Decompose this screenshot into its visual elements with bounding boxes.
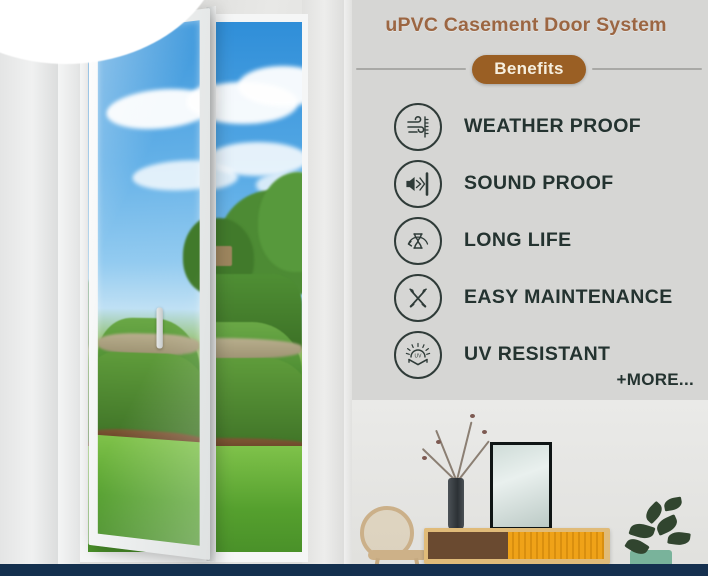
bottom-navy-bar-left xyxy=(0,564,352,576)
interior-living-room-photo xyxy=(352,400,708,576)
divider-left xyxy=(356,68,466,70)
door-handle xyxy=(156,307,162,348)
branch-bud xyxy=(470,414,475,418)
wind-weather-icon xyxy=(394,103,442,151)
door-reveal xyxy=(58,0,80,576)
benefits-badge-row: Benefits xyxy=(356,54,702,84)
benefit-label: LONG LIFE xyxy=(464,229,572,252)
benefits-list: WEATHER PROOF SOUND PROOF xyxy=(394,98,704,383)
poster: uPVC Casement Door System Benefits xyxy=(0,0,708,576)
open-door-sash xyxy=(88,8,210,560)
sash-glass xyxy=(98,20,200,546)
branch-bud xyxy=(436,440,441,444)
ceramic-vase xyxy=(448,478,464,530)
page-title: uPVC Casement Door System xyxy=(352,14,700,37)
more-label: +MORE... xyxy=(617,370,695,390)
benefits-badge: Benefits xyxy=(472,55,585,84)
framed-artwork xyxy=(490,442,552,530)
benefit-label: WEATHER PROOF xyxy=(464,115,641,138)
branch-bud xyxy=(482,430,487,434)
benefit-item: LONG LIFE xyxy=(394,212,704,269)
sideboard-orange-slat-door xyxy=(508,532,604,559)
benefit-label: EASY MAINTENANCE xyxy=(464,286,673,309)
cloud xyxy=(208,142,302,176)
open-upvc-casement-door-photo xyxy=(0,0,352,576)
branch-bud xyxy=(422,456,427,460)
benefit-label: UV RESISTANT xyxy=(464,343,610,366)
divider-right xyxy=(592,68,702,70)
uv-sun-shield-icon: UV xyxy=(394,331,442,379)
benefit-item: WEATHER PROOF xyxy=(394,98,704,155)
benefit-item: EASY MAINTENANCE xyxy=(394,269,704,326)
benefit-label: SOUND PROOF xyxy=(464,172,614,195)
glass-reflection xyxy=(98,20,200,546)
sideboard-dark-door xyxy=(428,532,508,559)
speaker-sound-icon xyxy=(394,160,442,208)
benefit-item: SOUND PROOF xyxy=(394,155,704,212)
crossed-tools-icon xyxy=(394,274,442,322)
hourglass-cycle-icon xyxy=(394,217,442,265)
wall-panel-left xyxy=(0,0,58,576)
svg-text:UV: UV xyxy=(415,353,423,359)
